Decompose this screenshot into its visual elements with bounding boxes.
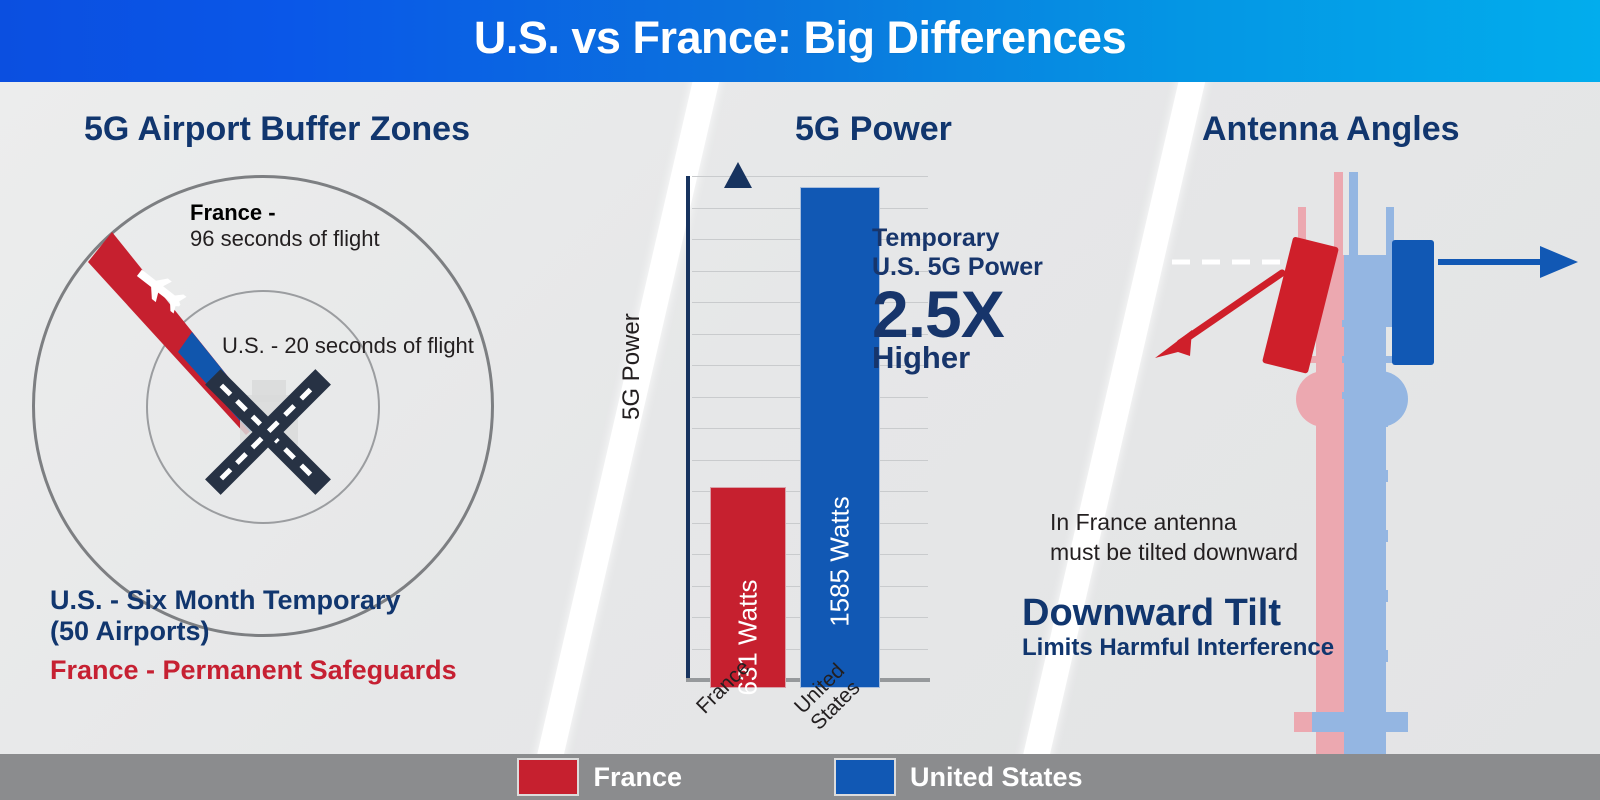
antenna-caption-line2: must be tilted downward xyxy=(1050,538,1298,568)
panel-title-antenna-angles: Antenna Angles xyxy=(1202,110,1460,149)
antenna-caption-line1: In France antenna xyxy=(1050,508,1298,538)
infographic-root: U.S. vs France: Big Differences 5G Airpo… xyxy=(0,0,1600,800)
callout-multiplier: 2.5X xyxy=(872,284,1043,345)
france-flight-label-detail: 96 seconds of flight xyxy=(190,226,380,252)
legend-swatch-united-states xyxy=(834,758,896,796)
panel-title-5g-power: 5G Power xyxy=(795,110,952,149)
antenna-caption: In France antenna must be tilted downwar… xyxy=(1050,508,1298,568)
axis-arrow-icon xyxy=(724,162,752,188)
us-flight-label-text: U.S. - 20 seconds of flight xyxy=(222,333,474,358)
page-title: U.S. vs France: Big Differences xyxy=(474,12,1126,64)
france-policy-note: France - Permanent Safeguards xyxy=(50,655,457,686)
legend-item-france: France xyxy=(517,758,682,796)
downward-tilt-subhead: Limits Harmful Interference xyxy=(1022,634,1334,662)
us-policy-note-line2: (50 Airports) xyxy=(50,616,401,647)
legend-item-united-states: United States xyxy=(834,758,1083,796)
us-flight-label: U.S. - 20 seconds of flight xyxy=(222,333,474,359)
callout-line-3: Higher xyxy=(872,342,1043,375)
us-policy-note-line1: U.S. - Six Month Temporary xyxy=(50,585,401,616)
header-banner: U.S. vs France: Big Differences xyxy=(0,0,1600,82)
bar-france: 631 Watts xyxy=(710,487,786,688)
downward-tilt-headline: Downward Tilt xyxy=(1022,592,1281,635)
legend-swatch-france xyxy=(517,758,579,796)
chart-y-axis xyxy=(686,176,690,680)
legend-label-france: France xyxy=(593,762,682,793)
bar-united-states-value: 1585 Watts xyxy=(825,496,856,627)
callout-line-1: Temporary xyxy=(872,224,1043,253)
us-policy-note: U.S. - Six Month Temporary (50 Airports) xyxy=(50,585,401,648)
france-flight-label: France - 96 seconds of flight xyxy=(190,200,380,252)
buffer-circle-inner xyxy=(146,290,380,524)
panel-title-buffer-zones: 5G Airport Buffer Zones xyxy=(84,110,470,149)
france-flight-label-bold: France - xyxy=(190,200,276,225)
chart-legend: France United States xyxy=(0,754,1600,800)
bar-united-states: 1585 Watts xyxy=(800,187,880,688)
power-ratio-callout: Temporary U.S. 5G Power 2.5X Higher xyxy=(872,224,1043,375)
chart-y-axis-label: 5G Power xyxy=(618,313,646,420)
legend-label-united-states: United States xyxy=(910,762,1083,793)
